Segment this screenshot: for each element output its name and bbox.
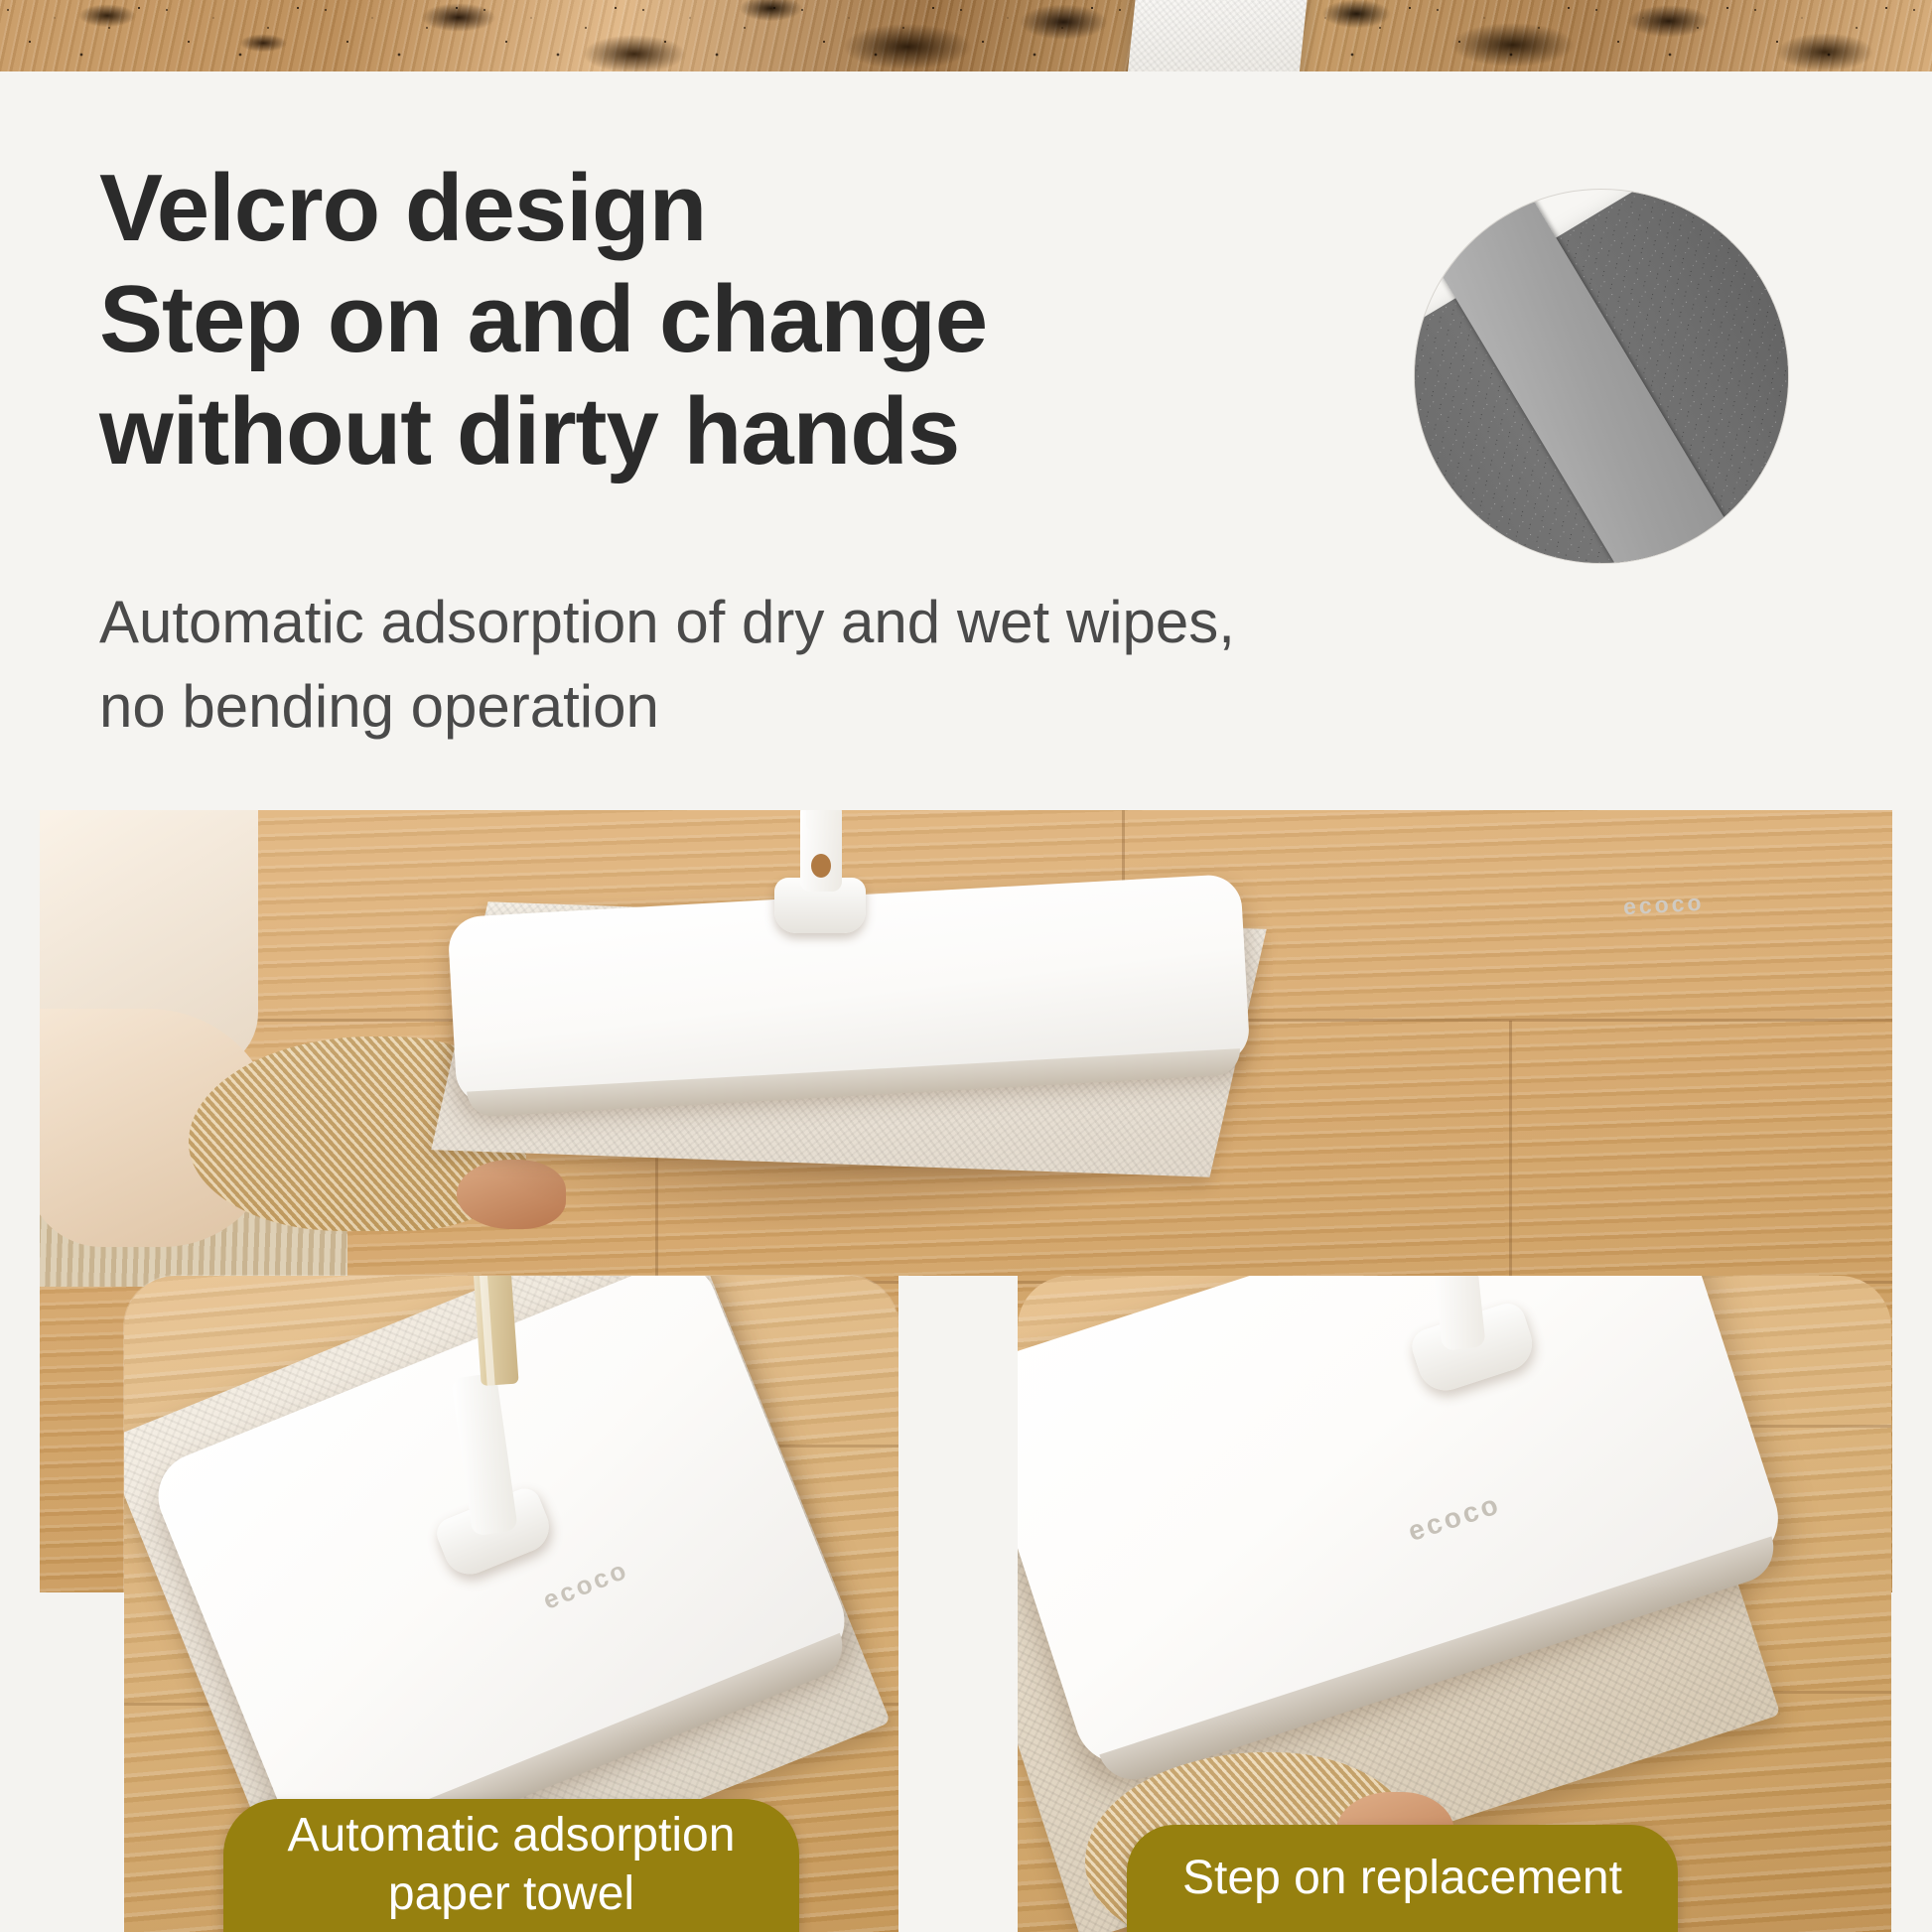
headline-line-2: Step on and change [99, 264, 1271, 375]
page-subtitle: Automatic adsorption of dry and wet wipe… [99, 580, 1380, 749]
headline-line-3: without dirty hands [99, 376, 1271, 487]
pill-right-label: Step on replacement [1182, 1850, 1622, 1908]
soil-speckles [0, 0, 1932, 71]
card-divider [898, 1276, 1018, 1932]
mop-pole [806, 810, 840, 830]
plank-seam [1509, 1021, 1512, 1283]
status-badge-automatic-adsorption: Automatic adsorptionpaper towel [223, 1799, 799, 1932]
subtitle-line-1: Automatic adsorption of dry and wet wipe… [99, 580, 1380, 664]
headline-line-1: Velcro design [99, 153, 1271, 264]
page-title: Velcro design Step on and change without… [99, 153, 1271, 487]
mop-neck-hole [811, 854, 831, 878]
pill-left-label: Automatic adsorptionpaper towel [288, 1807, 736, 1923]
header-section: Velcro design Step on and change without… [0, 71, 1932, 810]
dirty-floor-banner [0, 0, 1932, 71]
velcro-pad [1414, 189, 1789, 564]
subtitle-line-2: no bending operation [99, 664, 1380, 749]
status-badge-step-on-replacement: Step on replacement [1127, 1825, 1678, 1932]
velcro-closeup-inset [1414, 189, 1789, 564]
wipe-sheet [1125, 0, 1310, 71]
brand-logo: ecoco [1622, 890, 1705, 921]
